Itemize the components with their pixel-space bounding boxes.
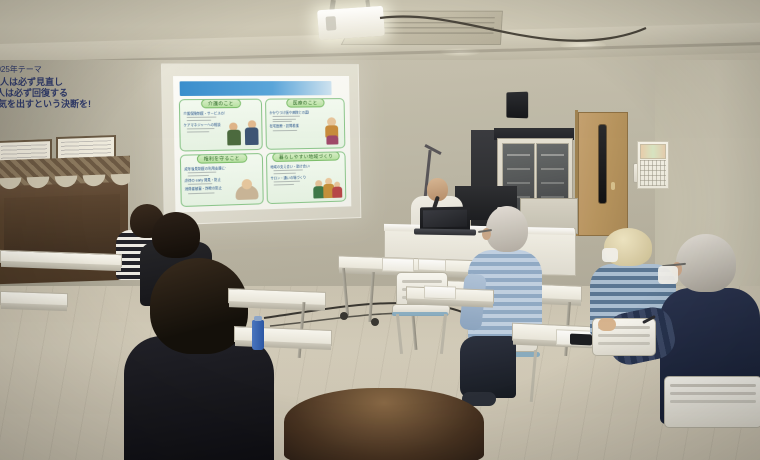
slide-bullet: ケアマネジャーへの相談: [184, 123, 226, 133]
slide-illustration-group-of-residents: [312, 164, 342, 199]
wall-poster: 2025年テーマ ない人は必ず見直し ない人は必ず回復する やる気を出すという決…: [0, 64, 104, 112]
slide-bullet: サロン・通いの場づくり: [270, 175, 310, 185]
handout-paper: [424, 285, 456, 299]
attendee-a7: [284, 388, 484, 460]
slide-illustration-elderly-person: [311, 111, 341, 146]
attendee-hand: [598, 318, 616, 331]
slide-illustration-two-people-talking: [227, 112, 259, 148]
projector-cable: [378, 6, 648, 52]
handout-paper: [382, 257, 414, 272]
slide-panel-title: 暮らしやすい地域づくり: [272, 151, 340, 162]
slide-panel-title: 介護のこと: [200, 99, 241, 109]
water-bottle[interactable]: [252, 320, 264, 350]
slide-bullet: 介護保険制度・サービスの利用について: [183, 111, 225, 121]
smartphone[interactable]: [570, 334, 592, 346]
slide-bullet: 虐待の early 発見・防止: [185, 178, 226, 186]
attendee-torso: [124, 336, 274, 460]
face-mask-icon: [602, 248, 618, 262]
handout-paper: [418, 259, 446, 272]
door-handle[interactable]: [611, 182, 615, 190]
slide-bullet: 成年後見制度の利用支援について: [184, 166, 226, 176]
door-window: [598, 124, 607, 204]
slide-bullet: 地域の支え合い・助け合いのネットワーク: [270, 164, 310, 174]
slide-panel: 権利を守ること 成年後見制度の利用支援について 虐待の early 発見・防止: [180, 153, 264, 207]
presentation-slide: 介護のこと 介護保険制度・サービスの利用について ケアマネジャーへの相談: [173, 76, 351, 212]
slide-bullet: 在宅医療・訪問看護: [270, 124, 310, 131]
face-mask-icon: [658, 266, 678, 284]
slide-panel-title: 権利を守ること: [196, 153, 247, 163]
poster-heading: 2025年テーマ: [0, 64, 42, 75]
projection-screen: 介護のこと 介護保険制度・サービスの利用について ケアマネジャーへの相談: [161, 63, 361, 225]
stacking-chair[interactable]: [664, 376, 760, 428]
seminar-table: [0, 291, 68, 307]
slide-bullet: かかりつけ医や病院との連携について: [269, 110, 309, 122]
slide-panel: 暮らしやすい地域づくり 地域の支え合い・助け合いのネットワーク サロン・通いの場…: [266, 151, 346, 204]
seminar-table: [234, 326, 332, 346]
slide-panel: 介護のこと 介護保険制度・サービスの利用について ケアマネジャーへの相談: [179, 99, 263, 152]
projector-icon: [317, 6, 385, 41]
slide-illustration-hands-protecting: [228, 166, 260, 202]
piano-cover-cloth: [0, 156, 130, 187]
wall-calendar: [637, 141, 669, 189]
attendee-hair: [284, 388, 484, 460]
table-caster: [340, 312, 348, 320]
slide-header-bar: [180, 81, 332, 96]
slide-panel-title: 医療のこと: [286, 98, 325, 107]
seminar-table: [228, 288, 326, 307]
attendee-hair: [152, 212, 200, 258]
seminar-room-photo: 2025年テーマ ない人は必ず見直し ない人は必ず回復する やる気を出すという決…: [0, 0, 760, 460]
chair-seat-accent: [392, 312, 448, 316]
slide-panel-grid: 介護のこと 介護保険制度・サービスの利用について ケアマネジャーへの相談: [179, 98, 346, 207]
table-caster: [371, 318, 379, 326]
slide-panel: 医療のこと かかりつけ医や病院との連携について 在宅医療・訪問看護: [265, 98, 345, 150]
poster-line: やる気を出すという決断を!: [0, 97, 91, 110]
slide-bullet: 消費者被害・詐欺の防止: [185, 186, 226, 194]
attendee-hair: [486, 206, 528, 252]
wall-speaker-icon: [506, 92, 528, 119]
